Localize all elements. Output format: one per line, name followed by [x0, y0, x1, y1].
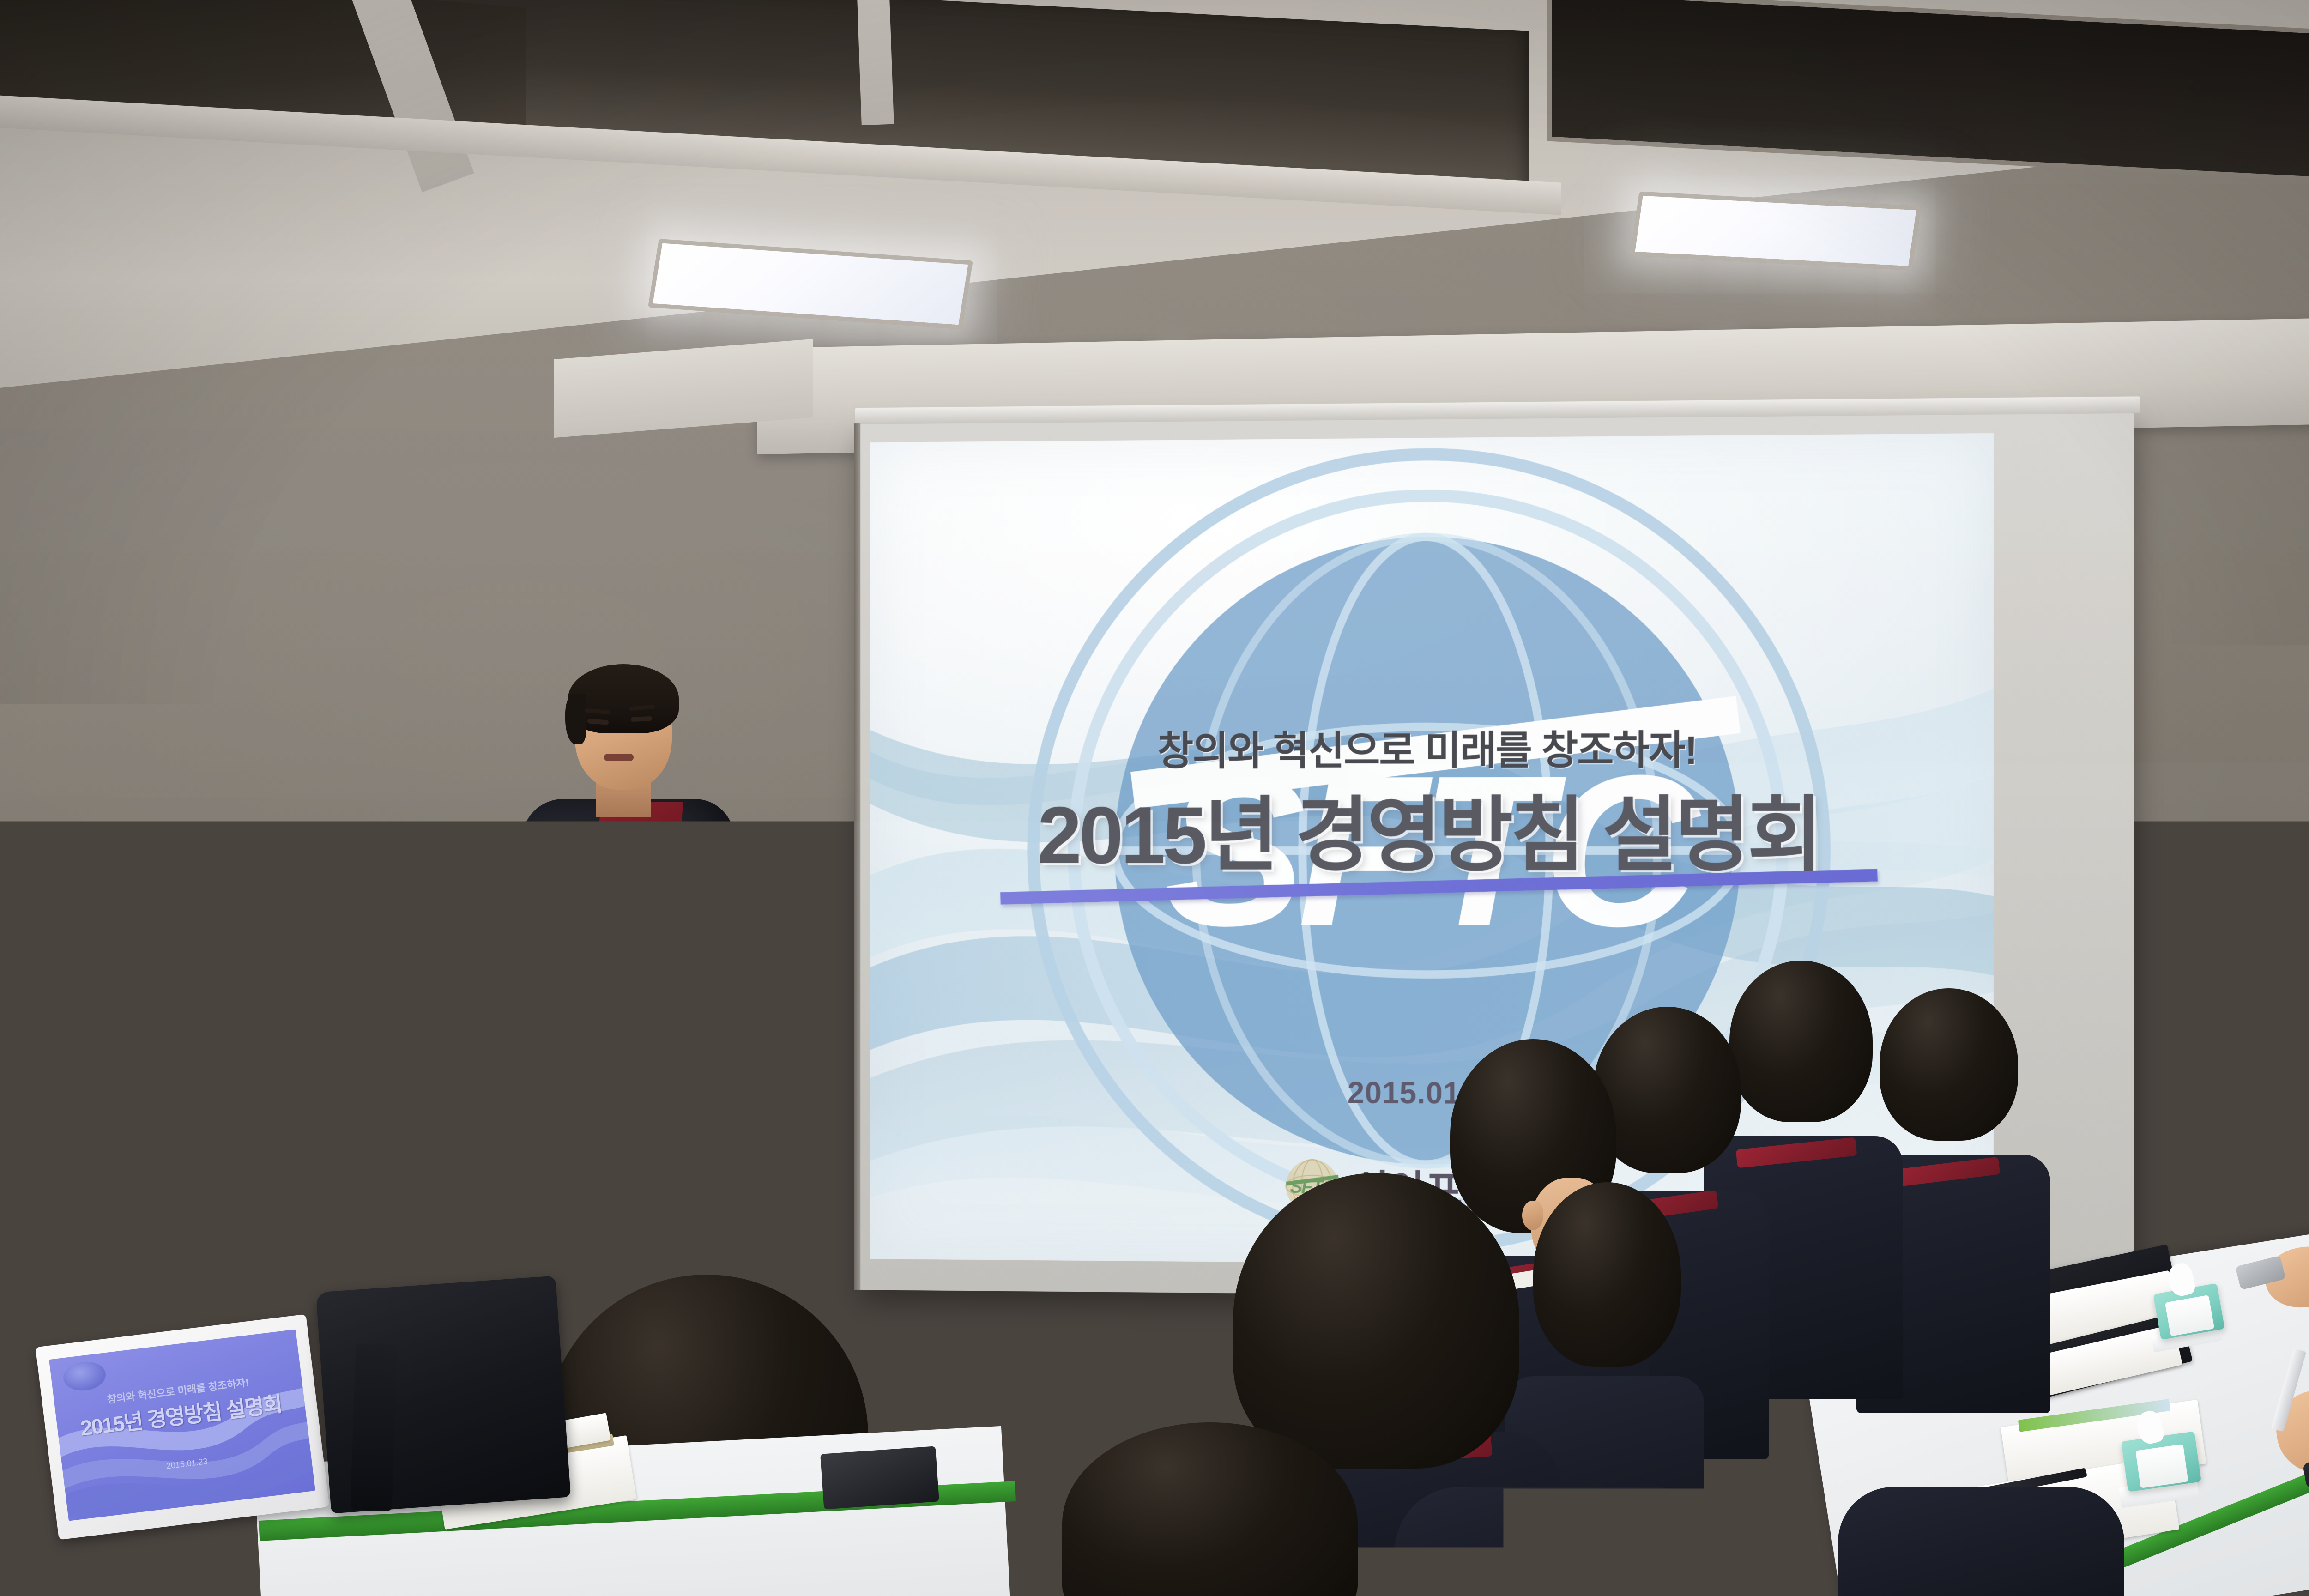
presenter-mouth: [604, 754, 634, 761]
tissue-box-inner-secondary: [2135, 1444, 2188, 1488]
slide-title: 2015년 경영방침 설명회: [870, 768, 1994, 887]
presenter-person: [480, 647, 767, 1339]
laptop[interactable]: 창의와 혁신으로 미래를 창조하자! 2015년 경영방침 설명회 2015.0…: [36, 1314, 330, 1540]
screen-side-rail: [854, 423, 861, 1290]
water-bottle: [58, 917, 79, 956]
slide-subtitle: 창의와 혁신으로 미래를 창조하자!: [870, 717, 1994, 777]
tissue-box-inner: [2165, 1295, 2214, 1336]
presenter-hair: [568, 664, 679, 733]
audience-jacket: [1395, 1487, 1718, 1596]
audience-jacket: [1838, 1487, 2124, 1596]
list-item: [820, 1446, 939, 1509]
audience-face: [65, 1113, 148, 1219]
photograph-scene: SFTC 창의와 혁신으로 미래를 창조하자! 2015년 경영방침 설명회 2…: [0, 0, 2309, 1596]
presentation-clicker: [504, 1042, 518, 1058]
backpack: [316, 1276, 571, 1513]
laptop-screen: 창의와 혁신으로 미래를 창조하자! 2015년 경영방침 설명회 2015.0…: [49, 1330, 315, 1521]
audience-person-foreground: [1838, 1469, 2124, 1596]
backpack-strap: [350, 1343, 398, 1511]
audience-person-foreground: [1062, 1422, 1358, 1596]
microphone-head-icon: [599, 855, 626, 884]
audience-hair: [1062, 1422, 1358, 1596]
audience-person-foreground: [1395, 1459, 1718, 1596]
ceiling-beam-secondary: [856, 0, 894, 125]
